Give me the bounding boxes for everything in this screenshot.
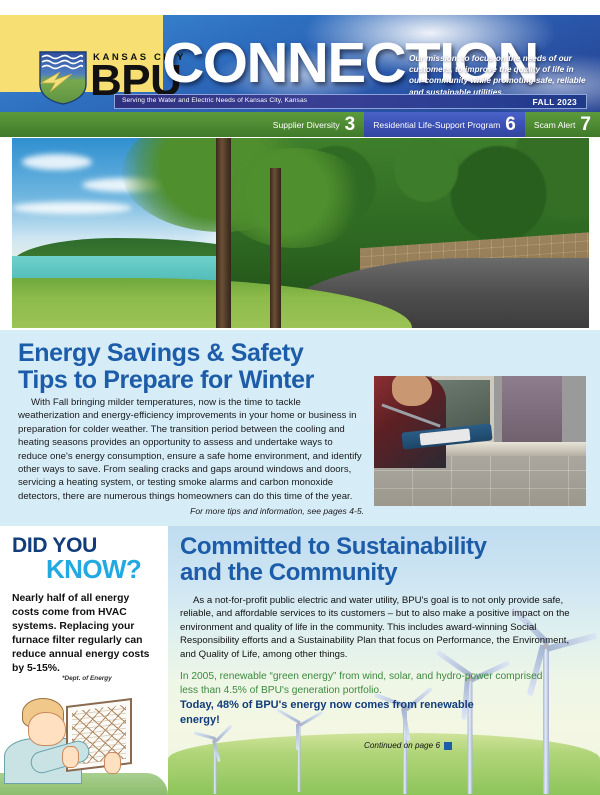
headline-line-2: and the Community (180, 559, 397, 586)
did-you-know-title-line2: KNOW? (46, 554, 141, 585)
door-panel (502, 376, 562, 446)
end-marker-square (444, 742, 452, 750)
wind-turbine (284, 724, 314, 792)
article-sustainability: Committed to Sustainability and the Comm… (168, 526, 600, 795)
sustainability-body-text: As a not-for-profit public electric and … (180, 594, 580, 661)
tree-foliage (220, 148, 370, 248)
person-face (28, 712, 66, 746)
nav-item-label: Scam Alert (534, 120, 576, 130)
person-hand (62, 746, 79, 768)
nav-item-page-number: 6 (505, 115, 516, 134)
nav-item-page-number: 3 (345, 115, 356, 134)
headline-line-2: Tips to Prepare for Winter (18, 366, 314, 394)
tagline-text: Serving the Water and Electric Needs of … (122, 97, 307, 104)
turbine-blade (215, 724, 233, 742)
turbine-tower (543, 646, 549, 794)
nav-item-scam-alert[interactable]: Scam Alert 7 (525, 112, 600, 137)
furnace-filter-illustration (0, 686, 168, 795)
nav-item-supplier-diversity[interactable]: Supplier Diversity 3 (264, 112, 364, 137)
headline-line-1: Committed to Sustainability (180, 533, 487, 560)
article-body-text: With Fall bringing milder temperatures, … (18, 396, 364, 503)
article-headline: Energy Savings & Safety Tips to Prepare … (18, 340, 314, 394)
sustainability-green-text: In 2005, renewable “green energy” from w… (180, 670, 560, 698)
article-energy-savings: Energy Savings & Safety Tips to Prepare … (0, 330, 600, 526)
caulking-window-photo (374, 376, 586, 506)
continued-label: Continued on page 6 (180, 741, 440, 750)
turbine-blade (194, 731, 216, 740)
cloud-shape (22, 154, 92, 170)
cloud-shape (12, 202, 132, 214)
headline-line-1: Energy Savings & Safety (18, 339, 303, 367)
article-caption: For more tips and information, see pages… (18, 506, 364, 516)
issue-date: FALL 2023 (533, 97, 577, 107)
tagline-bar: Serving the Water and Electric Needs of … (114, 94, 587, 109)
tree-trunk (216, 138, 231, 328)
person-hand (104, 752, 121, 774)
tree-trunk (270, 168, 281, 328)
nav-item-label: Residential Life-Support Program (373, 120, 500, 130)
sustainability-headline: Committed to Sustainability and the Comm… (180, 534, 487, 586)
did-you-know-footnote: *Dept. of Energy (62, 675, 112, 682)
nav-item-page-number: 7 (580, 115, 591, 134)
nav-item-label: Supplier Diversity (273, 120, 340, 130)
contents-nav-bar: Supplier Diversity 3 Residential Life-Su… (0, 112, 600, 137)
mission-statement: Our mission: to focus on the needs of ou… (409, 53, 587, 98)
did-you-know-box: DID YOU KNOW? Nearly half of all energy … (0, 526, 168, 795)
person-head (392, 376, 432, 406)
nav-item-residential-life-support[interactable]: Residential Life-Support Program 6 (364, 112, 525, 137)
wind-turbine (516, 646, 576, 794)
bpu-shield-logo-icon (38, 50, 88, 106)
did-you-know-body: Nearly half of all energy costs come fro… (12, 592, 154, 676)
sustainability-highlight-text: Today, 48% of BPU's energy now comes fro… (180, 698, 480, 727)
newsletter-page: KANSAS CITY BPU CONNECTION Our mission: … (0, 0, 600, 795)
hero-landscape-photo (12, 138, 589, 328)
